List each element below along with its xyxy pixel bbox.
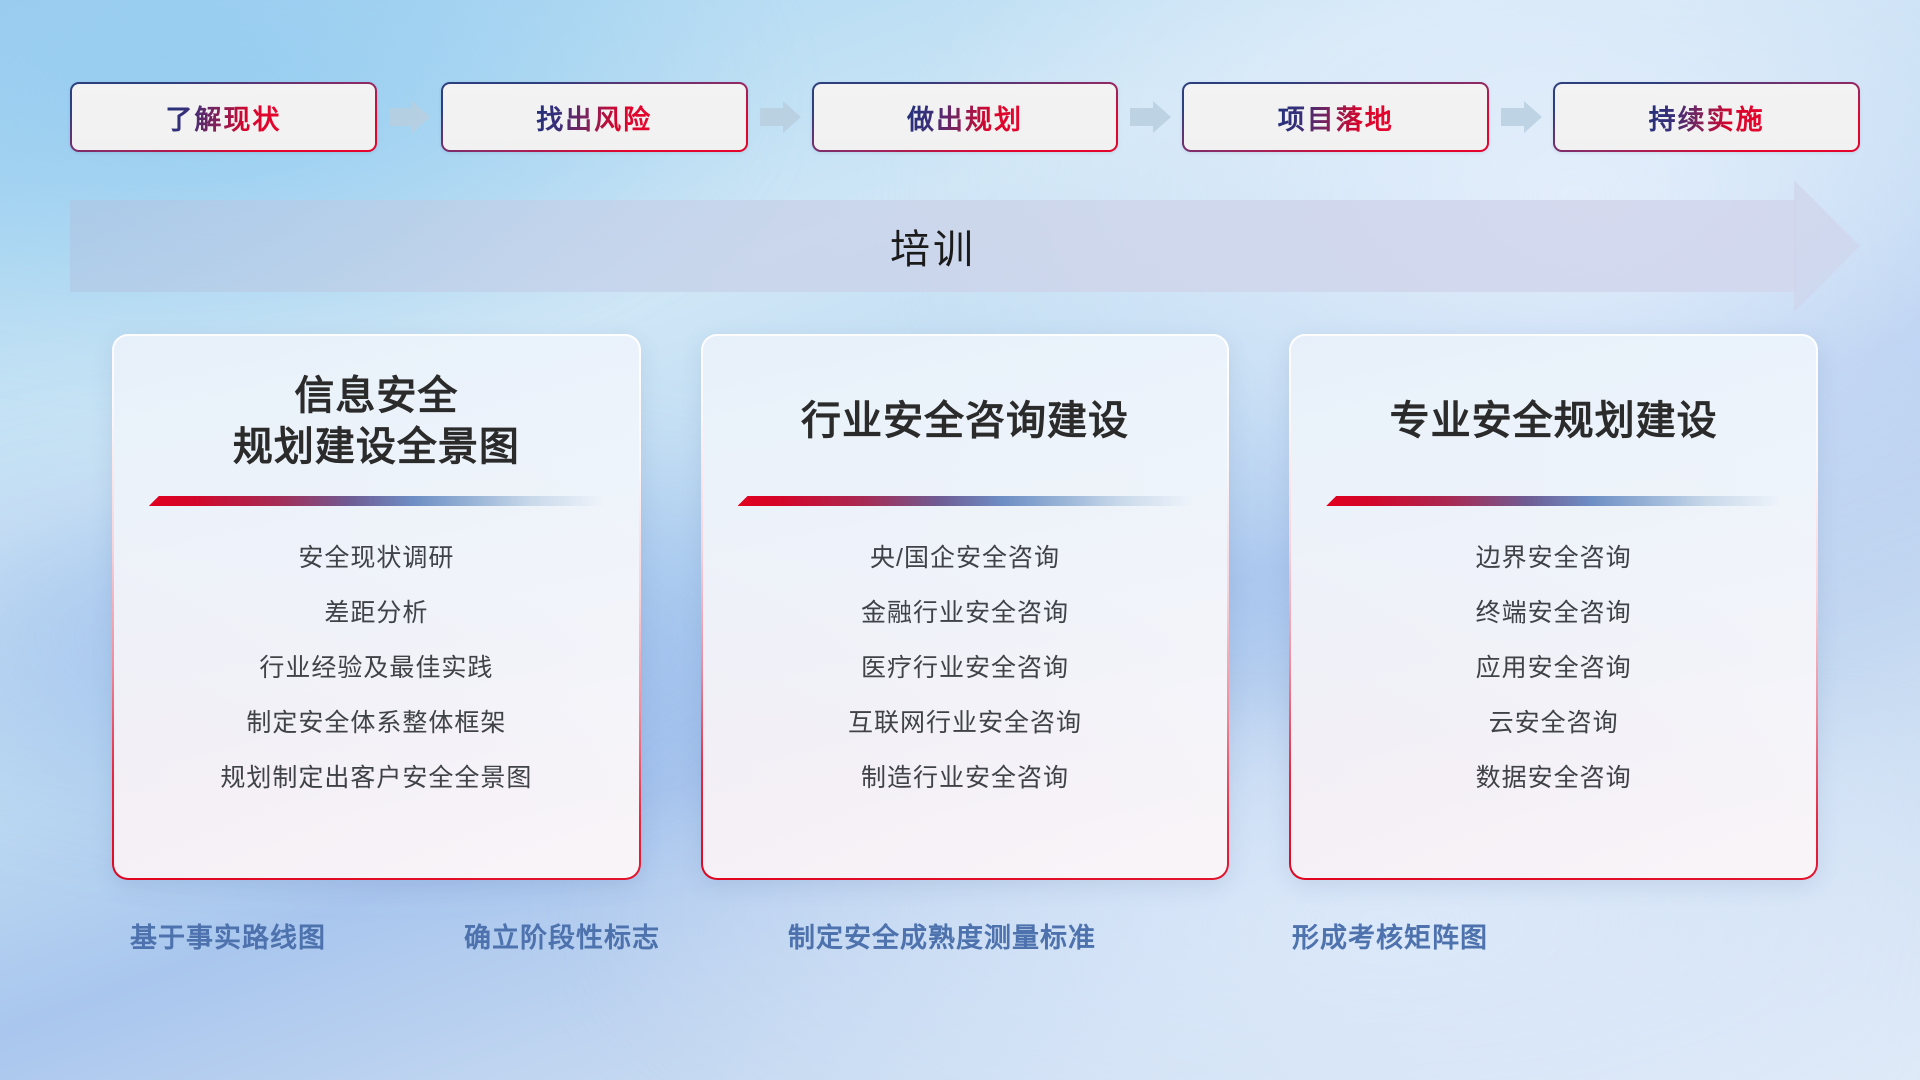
list-item: 数据安全咨询 xyxy=(1476,758,1632,794)
footer-label-row: 基于事实路线图 确立阶段性标志 制定安全成熟度测量标准 形成考核矩阵图 xyxy=(112,916,1818,964)
step-box-1[interactable]: 了解现状 xyxy=(70,82,377,152)
arrow-right-icon-4 xyxy=(1489,99,1553,135)
card-row: 信息安全 规划建设全景图 安全现状调研 差距分析 行业经验及最佳实践 制定安全体… xyxy=(112,334,1818,880)
arrow-right-icon-2 xyxy=(748,99,812,135)
list-item: 医疗行业安全咨询 xyxy=(861,648,1069,684)
list-item: 互联网行业安全咨询 xyxy=(848,703,1082,739)
step-box-3[interactable]: 做出规划 xyxy=(812,82,1119,152)
step-box-4[interactable]: 项目落地 xyxy=(1182,82,1489,152)
list-item: 安全现状调研 xyxy=(298,538,454,574)
footer-label-1: 基于事实路线图 xyxy=(130,916,326,955)
card-2-list: 央/国企安全咨询 金融行业安全咨询 医疗行业安全咨询 互联网行业安全咨询 制造行… xyxy=(848,538,1082,794)
training-banner: 培训 xyxy=(70,200,1860,292)
footer-label-4: 形成考核矩阵图 xyxy=(1292,916,1488,955)
card-3-title: 专业安全规划建设 xyxy=(1390,370,1718,474)
list-item: 制造行业安全咨询 xyxy=(861,758,1069,794)
card-2-divider xyxy=(738,496,1193,506)
card-1-title: 信息安全 规划建设全景图 xyxy=(233,370,520,474)
card-2-title-line-1: 行业安全咨询建设 xyxy=(801,396,1129,447)
list-item: 规划制定出客户安全全景图 xyxy=(220,758,532,794)
card-3-inner: 专业安全规划建设 边界安全咨询 终端安全咨询 应用安全咨询 云安全咨询 数据安全… xyxy=(1291,336,1816,878)
card-2-inner: 行业安全咨询建设 央/国企安全咨询 金融行业安全咨询 医疗行业安全咨询 互联网行… xyxy=(703,336,1228,878)
card-3[interactable]: 专业安全规划建设 边界安全咨询 终端安全咨询 应用安全咨询 云安全咨询 数据安全… xyxy=(1289,334,1818,880)
training-banner-arrowhead-icon xyxy=(1794,180,1860,312)
step-label-2: 找出风险 xyxy=(536,98,652,137)
background-glow-top-left xyxy=(0,0,768,356)
card-1-title-line-1: 信息安全 xyxy=(233,371,520,422)
card-1-title-line-2: 规划建设全景图 xyxy=(233,422,520,473)
step-label-5: 持续实施 xyxy=(1649,98,1765,137)
step-label-4: 项目落地 xyxy=(1278,98,1394,137)
list-item: 制定安全体系整体框架 xyxy=(246,703,506,739)
card-3-title-line-1: 专业安全规划建设 xyxy=(1390,396,1718,447)
process-step-row: 了解现状 找出风险 做出规划 项目落地 持续实施 xyxy=(70,78,1860,156)
card-1-list: 安全现状调研 差距分析 行业经验及最佳实践 制定安全体系整体框架 规划制定出客户… xyxy=(220,538,532,794)
card-1-divider xyxy=(149,496,604,506)
card-3-list: 边界安全咨询 终端安全咨询 应用安全咨询 云安全咨询 数据安全咨询 xyxy=(1476,538,1632,794)
step-box-2[interactable]: 找出风险 xyxy=(441,82,748,152)
list-item: 行业经验及最佳实践 xyxy=(259,648,493,684)
card-2-title: 行业安全咨询建设 xyxy=(801,370,1129,474)
slide-canvas: 了解现状 找出风险 做出规划 项目落地 持续实施 培训 信息安全 xyxy=(0,0,1920,1080)
list-item: 差距分析 xyxy=(324,593,428,629)
card-2[interactable]: 行业安全咨询建设 央/国企安全咨询 金融行业安全咨询 医疗行业安全咨询 互联网行… xyxy=(701,334,1230,880)
list-item: 金融行业安全咨询 xyxy=(861,593,1069,629)
card-1[interactable]: 信息安全 规划建设全景图 安全现状调研 差距分析 行业经验及最佳实践 制定安全体… xyxy=(112,334,641,880)
list-item: 应用安全咨询 xyxy=(1476,648,1632,684)
footer-label-3: 制定安全成熟度测量标准 xyxy=(788,916,1096,955)
footer-label-2: 确立阶段性标志 xyxy=(464,916,660,955)
card-1-inner: 信息安全 规划建设全景图 安全现状调研 差距分析 行业经验及最佳实践 制定安全体… xyxy=(114,336,639,878)
arrow-right-icon-1 xyxy=(377,99,441,135)
list-item: 边界安全咨询 xyxy=(1476,538,1632,574)
arrow-right-icon-3 xyxy=(1118,99,1182,135)
list-item: 央/国企安全咨询 xyxy=(870,538,1060,574)
step-label-3: 做出规划 xyxy=(907,98,1023,137)
training-banner-title: 培训 xyxy=(70,200,1796,292)
list-item: 终端安全咨询 xyxy=(1476,593,1632,629)
card-3-divider xyxy=(1326,496,1781,506)
step-label-1: 了解现状 xyxy=(165,98,281,137)
list-item: 云安全咨询 xyxy=(1489,703,1619,739)
step-box-5[interactable]: 持续实施 xyxy=(1553,82,1860,152)
